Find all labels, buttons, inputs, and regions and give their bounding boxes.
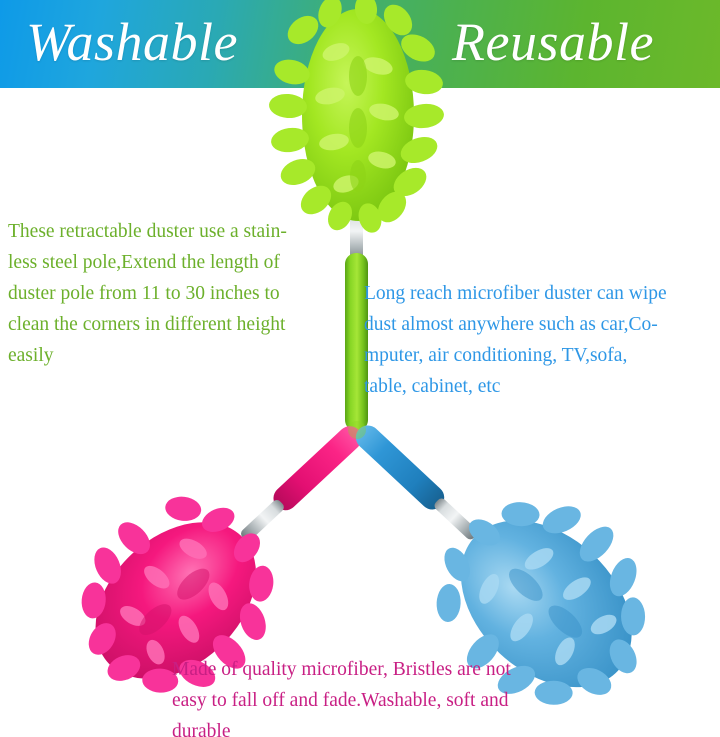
feature-text-retractable-pole: These retractable duster use a stain- le…: [8, 216, 352, 371]
pink-handle: [269, 421, 367, 515]
feature-text-quality-microfiber: Made of quality microfiber, Bristles are…: [172, 654, 592, 737]
handle-junction: [348, 421, 366, 439]
feature-text-long-reach: Long reach microfiber duster can wipe du…: [364, 278, 716, 402]
pink-metal-pole: [239, 498, 286, 543]
banner-strip: Washable Reusable: [0, 0, 720, 88]
blue-metal-pole: [433, 496, 480, 541]
banner-word-washable: Washable: [26, 4, 238, 80]
banner-word-reusable: Reusable: [452, 4, 654, 80]
product-infographic-image: Washable Reusable: [0, 0, 720, 737]
blue-handle: [351, 420, 449, 514]
